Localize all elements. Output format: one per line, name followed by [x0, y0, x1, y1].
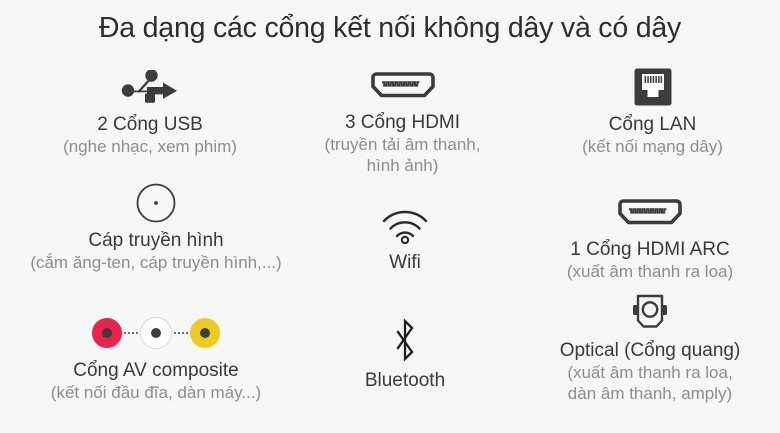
- feature-sublabel-line: (xuất âm thanh ra loa,: [520, 363, 780, 383]
- feature-item-bluetooth: Bluetooth: [290, 320, 520, 392]
- feature-item-wifi: Wifi: [290, 202, 520, 274]
- feature-sublabel: (xuất âm thanh ra loa): [520, 262, 780, 282]
- page-title: Đa dạng các cổng kết nối không dây và có…: [0, 12, 780, 45]
- feature-sublabel-line: (truyền tải âm thanh,: [275, 135, 530, 155]
- lan-port-icon: [525, 64, 780, 110]
- feature-sublabel-line: (cắm ăng-ten, cáp truyền hình,...): [0, 253, 312, 273]
- rca-white-connector: [140, 317, 172, 349]
- feature-label: Wifi: [290, 252, 520, 274]
- feature-sublabel-line: (kết nối đầu đĩa, dàn máy...): [0, 383, 312, 403]
- rca-av-composite-icon: [0, 310, 312, 356]
- feature-label: 1 Cổng HDMI ARC: [520, 239, 780, 261]
- feature-sublabel: (kết nối mạng dây): [525, 137, 780, 157]
- feature-item-av-composite: Cổng AV composite (kết nối đầu đĩa, dàn …: [0, 310, 312, 404]
- coaxial-cable-icon: [0, 180, 312, 226]
- feature-item-optical: Optical (Cổng quang) (xuất âm thanh ra l…: [520, 290, 780, 404]
- hdmi-arc-port-icon: [520, 189, 780, 235]
- feature-sublabel-line: hình ảnh): [275, 156, 530, 176]
- feature-label: Optical (Cổng quang): [520, 340, 780, 362]
- feature-sublabel-line: (nghe nhạc, xem phim): [0, 137, 300, 157]
- feature-item-hdmi-arc: 1 Cổng HDMI ARC (xuất âm thanh ra loa): [520, 189, 780, 283]
- bluetooth-icon: [290, 320, 520, 366]
- rca-yellow-connector: [190, 318, 220, 348]
- feature-sublabel: (xuất âm thanh ra loa, dàn âm thanh, amp…: [520, 363, 780, 404]
- optical-toslink-port-icon: [520, 290, 780, 336]
- feature-sublabel-line: (kết nối mạng dây): [525, 137, 780, 157]
- rca-red-connector: [92, 318, 122, 348]
- feature-sublabel: (truyền tải âm thanh, hình ảnh): [275, 135, 530, 176]
- feature-sublabel-line: dàn âm thanh, amply): [520, 384, 780, 404]
- feature-label: 3 Cổng HDMI: [275, 112, 530, 134]
- feature-item-usb: 2 Cổng USB (nghe nhạc, xem phim): [0, 64, 300, 158]
- feature-label: Bluetooth: [290, 370, 520, 392]
- connector-dots: [122, 332, 140, 334]
- feature-item-hdmi: 3 Cổng HDMI (truyền tải âm thanh, hình ả…: [275, 62, 530, 176]
- connectivity-infographic: Đa dạng các cổng kết nối không dây và có…: [0, 0, 780, 433]
- hdmi-port-icon: [275, 62, 530, 108]
- usb-icon: [0, 64, 300, 110]
- feature-label: 2 Cổng USB: [0, 114, 300, 136]
- feature-sublabel: (cắm ăng-ten, cáp truyền hình,...): [0, 253, 312, 273]
- wifi-icon: [290, 202, 520, 248]
- feature-item-coaxial: Cáp truyền hình (cắm ăng-ten, cáp truyền…: [0, 180, 312, 274]
- feature-sublabel-line: (xuất âm thanh ra loa): [520, 262, 780, 282]
- connector-dots: [172, 332, 190, 334]
- feature-sublabel: (kết nối đầu đĩa, dàn máy...): [0, 383, 312, 403]
- feature-sublabel: (nghe nhạc, xem phim): [0, 137, 300, 157]
- feature-grid: 2 Cổng USB (nghe nhạc, xem phim) 3 Cổng …: [0, 62, 780, 433]
- feature-label: Cáp truyền hình: [0, 230, 312, 252]
- feature-label: Cổng LAN: [525, 114, 780, 136]
- feature-label: Cổng AV composite: [0, 360, 312, 382]
- feature-item-lan: Cổng LAN (kết nối mạng dây): [525, 64, 780, 158]
